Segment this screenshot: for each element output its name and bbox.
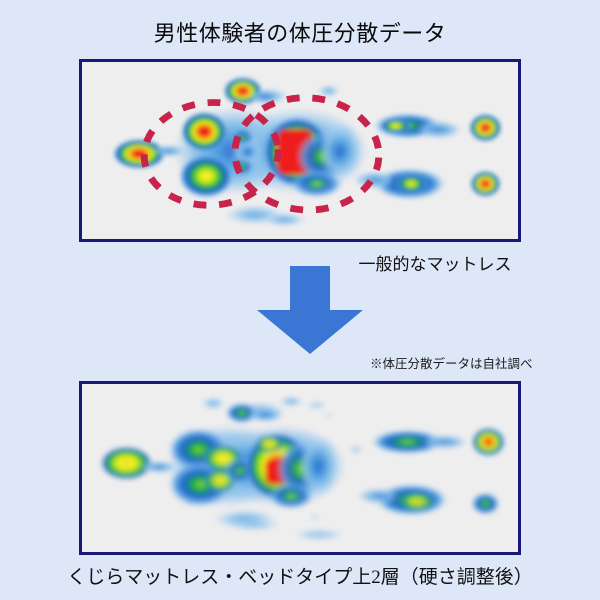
heatmap-top xyxy=(82,62,518,239)
down-arrow-icon xyxy=(255,264,365,356)
source-note: ※体圧分散データは自社調べ xyxy=(370,353,600,372)
pressure-map-infographic: 男性体験者の体圧分散データ xyxy=(0,0,600,600)
transition-arrow xyxy=(255,264,365,356)
caption-bottom: くじらマットレス・ベッドタイプ上2層（硬さ調整後） xyxy=(0,562,600,589)
pressure-panel-bottom xyxy=(79,381,521,555)
heatmap-bottom xyxy=(82,384,518,552)
page-title: 男性体験者の体圧分散データ xyxy=(0,16,600,48)
pressure-panel-top xyxy=(79,59,521,242)
